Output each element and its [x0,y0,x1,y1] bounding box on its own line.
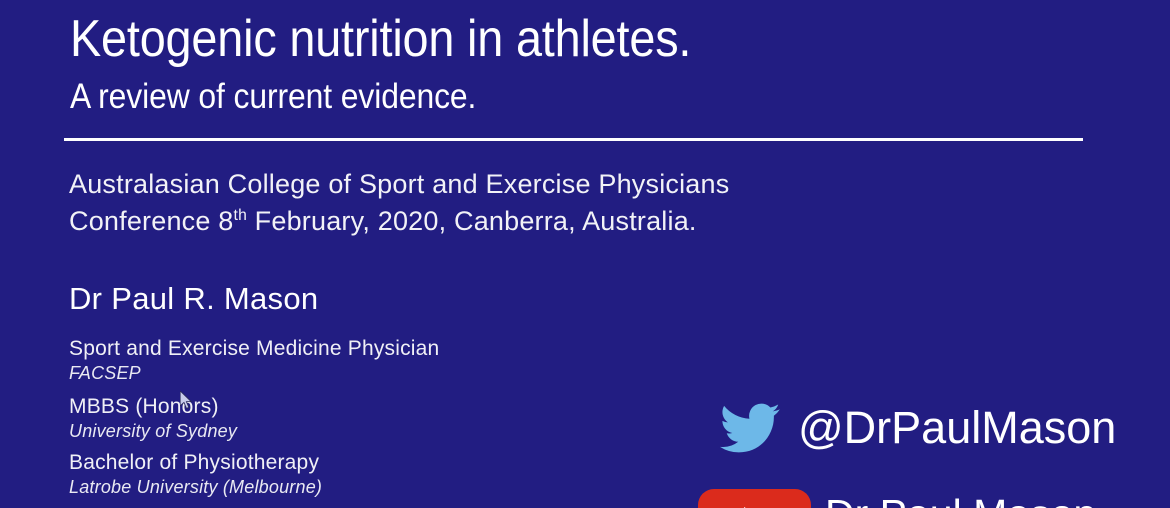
twitter-bird-icon [714,398,786,458]
conference-name: Australasian College of Sport and Exerci… [69,166,729,203]
conference-date-suffix: February, 2020, Canberra, Australia. [247,206,697,236]
conference-date-ordinal: th [234,207,247,224]
credential-item: Bachelor of Physiotherapy Latrobe Univer… [69,450,322,499]
credential-title: Bachelor of Physiotherapy [69,450,322,476]
conference-date-location: Conference 8th February, 2020, Canberra,… [69,203,729,240]
title-divider-rule [64,138,1083,141]
credential-institution: University of Sydney [69,420,237,443]
youtube-social-row[interactable]: Dr Paul Mason [698,489,1096,508]
credential-institution: Latrobe University (Melbourne) [69,476,322,499]
youtube-play-icon [698,489,811,508]
presentation-slide: Ketogenic nutrition in athletes. A revie… [0,0,1170,508]
credential-item: MBBS (Honors) University of Sydney [69,394,237,443]
author-name: Dr Paul R. Mason [69,280,318,318]
youtube-channel-label[interactable]: Dr Paul Mason [825,489,1096,508]
twitter-social-row[interactable]: @DrPaulMason [714,398,1116,458]
credential-institution: FACSEP [69,362,439,385]
credential-item: Sport and Exercise Medicine Physician FA… [69,336,439,385]
credential-title: MBBS (Honors) [69,394,237,420]
slide-subtitle: A review of current evidence. [70,76,476,118]
credential-title: Sport and Exercise Medicine Physician [69,336,439,362]
conference-date-prefix: Conference 8 [69,206,234,236]
conference-details: Australasian College of Sport and Exerci… [69,166,729,240]
twitter-handle[interactable]: @DrPaulMason [798,402,1116,454]
slide-title: Ketogenic nutrition in athletes. [70,8,691,70]
